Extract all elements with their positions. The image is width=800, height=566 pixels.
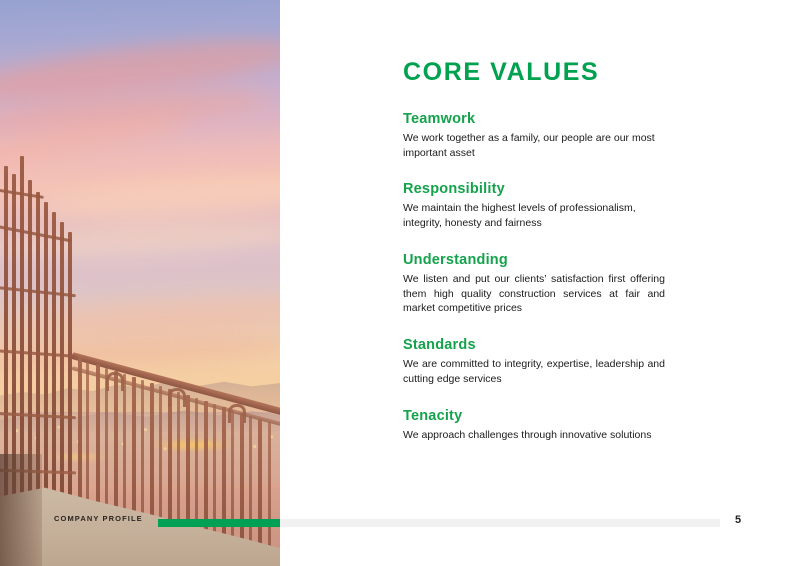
rebar-hook bbox=[106, 372, 124, 391]
value-title: Understanding bbox=[403, 252, 665, 269]
page-title: CORE VALUES bbox=[403, 60, 665, 85]
rebar-hook bbox=[228, 404, 246, 423]
rebar-bar bbox=[268, 422, 271, 566]
slide-page: COMPANY PROFILE 5 CORE VALUES Teamwork W… bbox=[0, 0, 800, 566]
cover-photo bbox=[0, 0, 280, 566]
concrete-shadow bbox=[0, 454, 42, 566]
value-block-standards: Standards We are committed to integrity,… bbox=[403, 337, 665, 386]
page-number: 5 bbox=[735, 514, 741, 526]
value-title: Tenacity bbox=[403, 408, 665, 425]
value-text: We maintain the highest levels of profes… bbox=[403, 201, 665, 231]
value-title: Standards bbox=[403, 337, 665, 354]
value-block-teamwork: Teamwork We work together as a family, o… bbox=[403, 111, 665, 160]
footer-company-profile-label: COMPANY PROFILE bbox=[54, 514, 143, 523]
value-text: We listen and put our clients’ satisfact… bbox=[403, 272, 665, 317]
value-block-tenacity: Tenacity We approach challenges through … bbox=[403, 408, 665, 443]
value-title: Responsibility bbox=[403, 181, 665, 198]
value-title: Teamwork bbox=[403, 111, 665, 128]
progress-fill bbox=[158, 519, 280, 527]
value-text: We approach challenges through innovativ… bbox=[403, 428, 665, 443]
value-block-responsibility: Responsibility We maintain the highest l… bbox=[403, 181, 665, 230]
value-text: We work together as a family, our people… bbox=[403, 131, 665, 161]
value-text: We are committed to integrity, expertise… bbox=[403, 357, 665, 387]
value-block-understanding: Understanding We listen and put our clie… bbox=[403, 252, 665, 316]
rebar-hook bbox=[168, 388, 186, 407]
rebar-top-rail bbox=[71, 352, 280, 417]
core-values-content: CORE VALUES Teamwork We work together as… bbox=[403, 60, 665, 442]
